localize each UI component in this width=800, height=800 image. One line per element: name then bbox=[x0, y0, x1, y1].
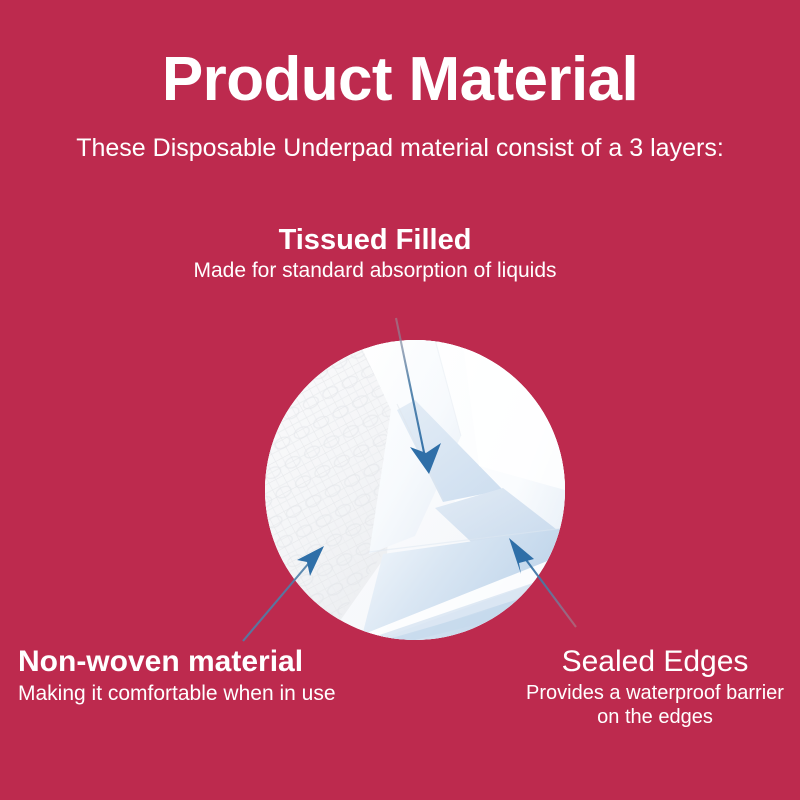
header: Product Material These Disposable Underp… bbox=[0, 48, 800, 163]
product-photo-circle bbox=[265, 340, 565, 640]
callout-tissued-filled-description: Made for standard absorption of liquids bbox=[175, 258, 575, 284]
callout-tissued-filled-heading: Tissued Filled bbox=[175, 224, 575, 256]
callout-non-woven-material: Non-woven material Making it comfortable… bbox=[18, 645, 418, 706]
callout-non-woven-material-description: Making it comfortable when in use bbox=[18, 681, 418, 707]
page-title: Product Material bbox=[0, 48, 800, 111]
page-subtitle: These Disposable Underpad material consi… bbox=[0, 133, 800, 163]
callout-sealed-edges-heading: Sealed Edges bbox=[515, 645, 795, 679]
product-material-infographic: Product Material These Disposable Underp… bbox=[0, 0, 800, 800]
callout-tissued-filled: Tissued Filled Made for standard absorpt… bbox=[175, 224, 575, 284]
callout-sealed-edges-description: Provides a waterproof barrier on the edg… bbox=[515, 681, 795, 730]
callout-non-woven-material-heading: Non-woven material bbox=[18, 645, 418, 679]
underpad-layers-illustration bbox=[265, 340, 565, 640]
callout-sealed-edges: Sealed Edges Provides a waterproof barri… bbox=[515, 645, 795, 729]
